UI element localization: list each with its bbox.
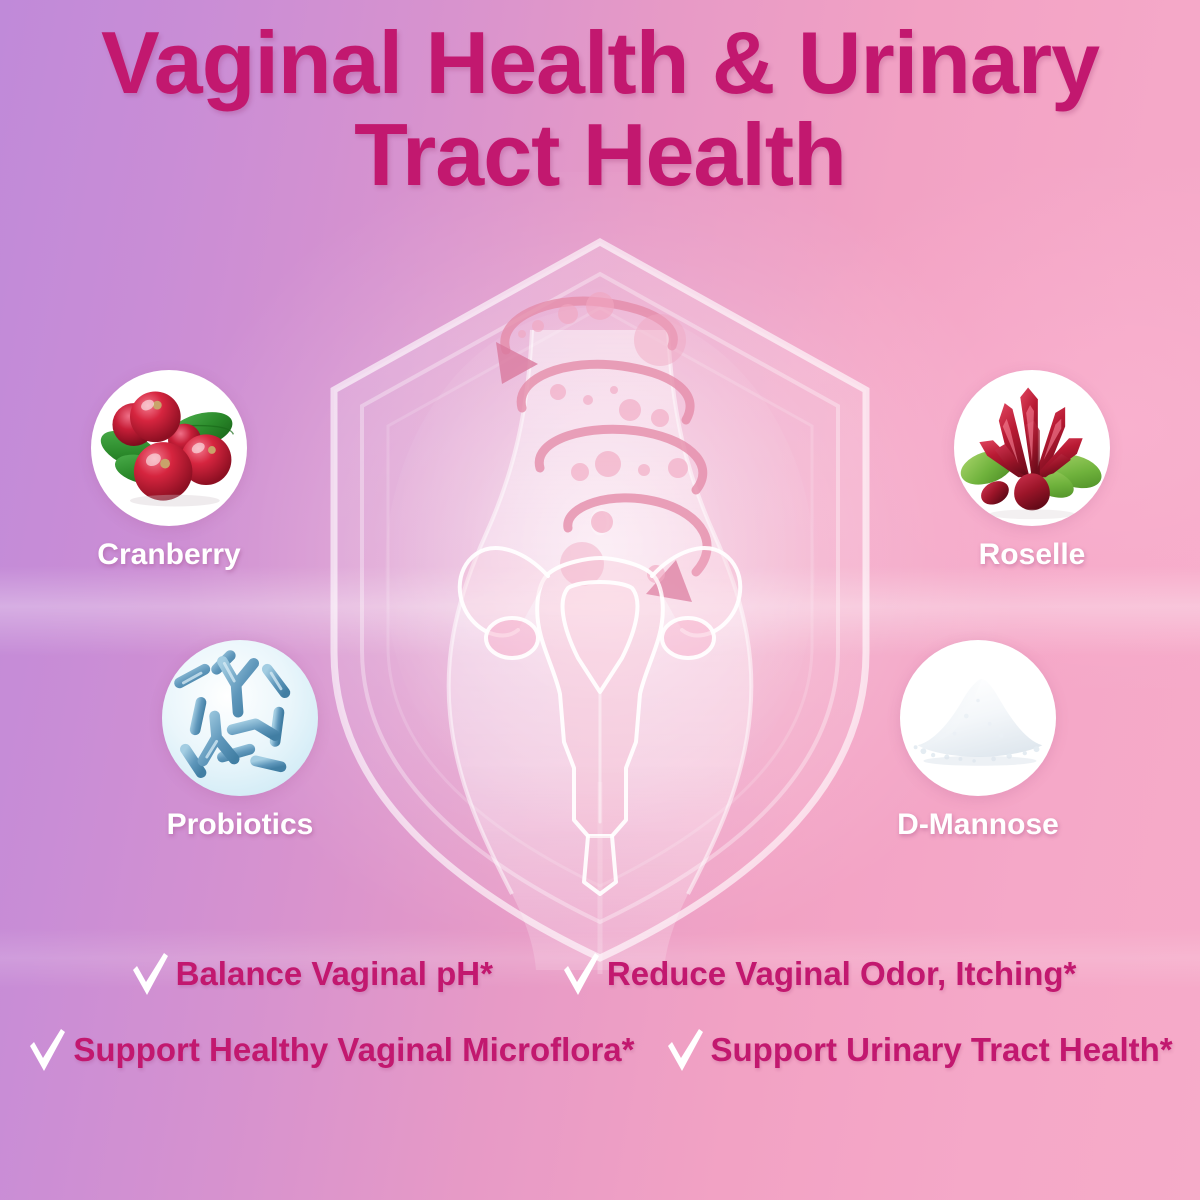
checkmark-icon	[665, 1028, 705, 1072]
white-powder-mound-icon	[900, 640, 1056, 796]
page-title-line-2: Tract Health	[0, 110, 1200, 200]
ingredient-cranberry[interactable]: Cranberry	[69, 370, 269, 572]
benefit-balance-ph[interactable]: Balance Vaginal pH*	[130, 952, 493, 996]
product-infographic-poster: Vaginal Health & Urinary Tract Health	[0, 0, 1200, 1200]
ingredient-dmannose[interactable]: D-Mannose	[878, 640, 1078, 842]
checkmark-icon	[130, 952, 170, 996]
benefit-support-microflora[interactable]: Support Healthy Vaginal Microflora*	[27, 1028, 634, 1072]
page-title-line-1: Vaginal Health & Urinary	[0, 18, 1200, 108]
ingredient-label-dmannose: D-Mannose	[878, 808, 1078, 842]
checkmark-icon	[27, 1028, 67, 1072]
benefits-row-2: Support Healthy Vaginal Microflora* Supp…	[0, 1028, 1200, 1072]
shield-anatomy-graphic	[300, 222, 900, 982]
shield-outline-icon	[334, 242, 866, 958]
ingredient-label-roselle: Roselle	[932, 538, 1132, 572]
benefit-reduce-odor[interactable]: Reduce Vaginal Odor, Itching*	[561, 952, 1076, 996]
benefit-text: Support Healthy Vaginal Microflora*	[73, 1031, 634, 1069]
benefits-row-1: Balance Vaginal pH* Reduce Vaginal Odor,…	[0, 952, 1200, 996]
ingredient-probiotics[interactable]: Probiotics	[140, 640, 340, 842]
ingredient-label-probiotics: Probiotics	[140, 808, 340, 842]
uterus-anatomy-icon	[460, 548, 741, 894]
bubbles-icon	[518, 292, 688, 586]
benefit-text: Balance Vaginal pH*	[176, 955, 493, 993]
benefit-text: Reduce Vaginal Odor, Itching*	[607, 955, 1076, 993]
benefits-list: Balance Vaginal pH* Reduce Vaginal Odor,…	[0, 952, 1200, 1072]
benefit-text: Support Urinary Tract Health*	[711, 1031, 1173, 1069]
female-torso-silhouette	[449, 330, 752, 974]
roselle-hibiscus-icon	[954, 370, 1110, 526]
cranberry-icon	[91, 370, 247, 526]
page-title: Vaginal Health & Urinary Tract Health	[0, 18, 1200, 200]
benefit-support-urinary[interactable]: Support Urinary Tract Health*	[665, 1028, 1173, 1072]
ingredient-label-cranberry: Cranberry	[69, 538, 269, 572]
spiral-arrow-heads	[496, 342, 692, 602]
probiotic-bacteria-icon	[162, 640, 318, 796]
ingredient-roselle[interactable]: Roselle	[932, 370, 1132, 572]
spiral-arrows-icon	[505, 301, 707, 572]
checkmark-icon	[561, 952, 601, 996]
